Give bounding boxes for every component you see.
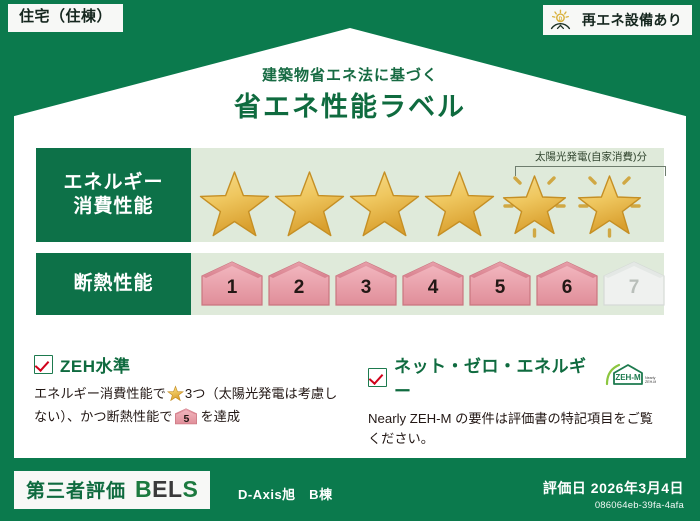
grade-number: 1 [200,277,264,299]
claim-nze-body: Nearly ZEH-M の要件は評価書の特記項目をご覧ください。 [368,409,656,450]
inline-star-icon [167,389,184,404]
stars-container [191,148,664,242]
claim-zeh-head: ZEH水準 [34,352,338,377]
grade-badge-3: 3 [334,260,398,308]
label-subtitle: 建築物省エネ法に基づく [0,64,700,85]
check-icon [34,355,53,374]
grade-badge-7: 7 [602,260,666,308]
insulation-performance-label-box: 断熱性能 [36,253,191,315]
insulation-grades-panel: 1 2 3 [191,253,664,315]
label-footer: 第三者評価 BELS D-Axis旭 B棟 評価日 2026年3月4日 0860… [0,463,700,521]
grade-number: 5 [468,277,532,299]
sun-solar-icon: D [550,9,576,31]
svg-text:ZEH-M: ZEH-M [615,373,641,382]
claim-zeh-standard: ZEH水準 エネルギー消費性能で3つ（太陽光発電は考慮しない）、かつ断熱性能で5… [34,352,352,450]
grade-badge-5: 5 [468,260,532,308]
energy-stars-panel: 太陽光発電(自家消費)分 [191,148,664,242]
claim-zeh-title: ZEH水準 [60,352,131,377]
grades-container: 1 2 3 [191,253,664,315]
zeh-m-logo-icon: ZEH-M Nearly ZEH-M [604,362,656,393]
check-icon [368,368,387,387]
inline-grade-number: 5 [174,411,198,427]
grade-badge-4: 4 [401,260,465,308]
energy-performance-row: エネルギー 消費性能 太陽光発電(自家消費)分 [36,148,664,242]
claim-zeh-prefix: エネルギー消費性能で [34,386,166,401]
svg-text:ZEH-M: ZEH-M [645,380,656,384]
renewable-badge-label: 再エネ設備あり [582,10,682,30]
bels-jp-label: 第三者評価 [26,476,126,503]
evaluation-id: 086064eb-39fa-4afa [543,500,684,511]
star-filled-3 [347,166,422,238]
claims-section: ZEH水準 エネルギー消費性能で3つ（太陽光発電は考慮しない）、かつ断熱性能で5… [34,352,670,450]
star-filled-4 [422,166,497,238]
grade-badge-6: 6 [535,260,599,308]
grade-badge-2: 2 [267,260,331,308]
bels-en-label: BELS [135,478,198,501]
grade-number: 4 [401,277,465,299]
energy-label-line1: エネルギー [63,171,163,195]
energy-performance-label-box: エネルギー 消費性能 [36,148,191,242]
svg-text:D: D [559,16,563,22]
grade-number: 6 [535,277,599,299]
claim-nze-head: ネット・ゼロ・エネルギー ZEH-M Nearly ZEH-M [368,352,656,402]
inline-grade-house-icon: 5 [174,408,198,425]
energy-performance-label: 住宅（住棟） D 再エネ設備あり 建築物省エネ法に基づく 省エネ性能ラベル [0,0,700,521]
star-solar-5 [497,166,572,238]
star-solar-6 [572,166,647,238]
evaluation-date: 評価日 2026年3月4日 [543,478,684,498]
renewable-equipment-badge: D 再エネ設備あり [543,5,692,35]
metric-rows: エネルギー 消費性能 太陽光発電(自家消費)分 [36,148,664,326]
building-type-tab: 住宅（住棟） [8,4,123,32]
insulation-performance-row: 断熱性能 [36,253,664,315]
project-name: D-Axis旭 B棟 [238,484,333,503]
grade-number: 3 [334,277,398,299]
claim-net-zero-energy: ネット・ゼロ・エネルギー ZEH-M Nearly ZEH-M Nearly Z… [352,352,670,450]
bels-certification-plate: 第三者評価 BELS [14,471,210,509]
claim-zeh-body: エネルギー消費性能で3つ（太陽光発電は考慮しない）、かつ断熱性能で5を達成 [34,384,338,428]
star-filled-2 [272,166,347,238]
evaluation-info: 評価日 2026年3月4日 086064eb-39fa-4afa [543,478,684,511]
claim-zeh-suffix: を達成 [200,409,240,424]
insulation-label: 断熱性能 [73,272,153,296]
grade-badge-1: 1 [200,260,264,308]
star-filled-1 [197,166,272,238]
claim-nze-title: ネット・ゼロ・エネルギー [394,352,591,402]
energy-label-line2: 消費性能 [73,195,153,219]
label-title: 省エネ性能ラベル [0,85,700,124]
grade-number: 7 [602,277,666,299]
grade-number: 2 [267,277,331,299]
